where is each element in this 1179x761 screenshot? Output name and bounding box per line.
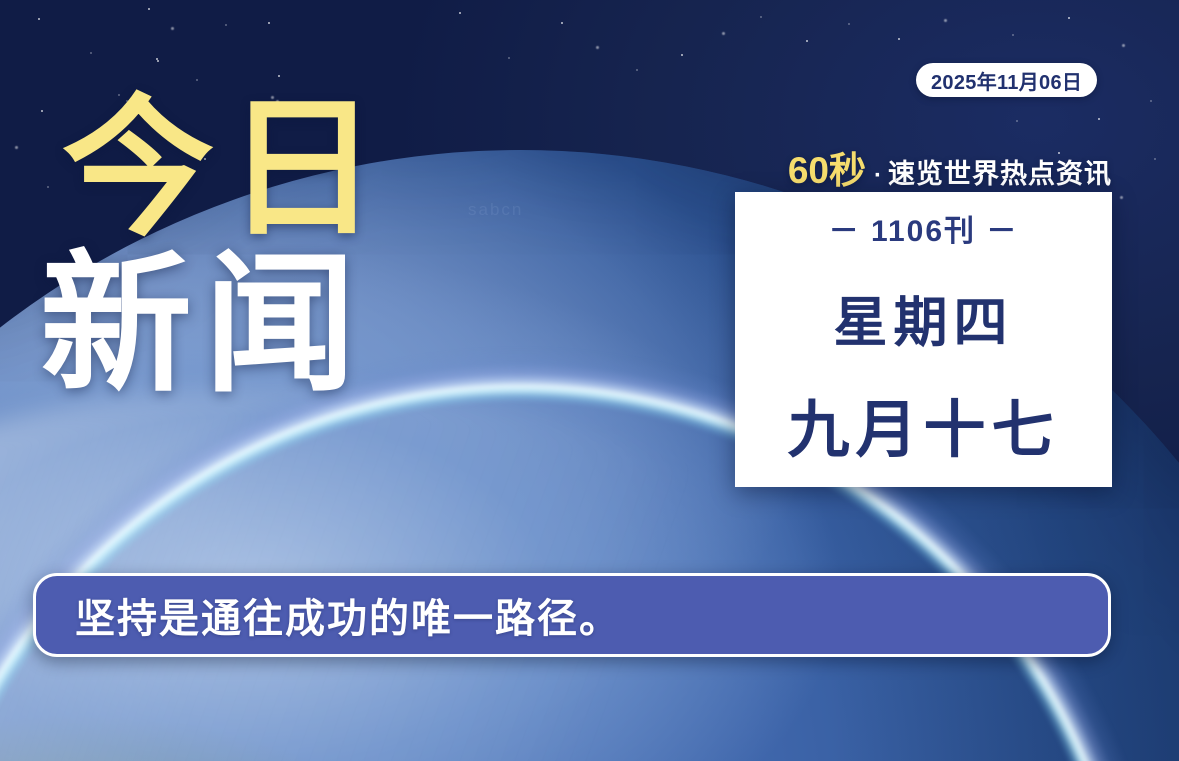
news-poster: sabcn 今日 新闻 2025年11月06日 60秒 · 速览世界热点资讯 －… bbox=[0, 0, 1179, 761]
quote-bar: 坚持是通往成功的唯一路径。 bbox=[33, 573, 1111, 657]
weekday-label: 星期四 bbox=[834, 278, 1014, 357]
tagline: 60秒 · 速览世界热点资讯 bbox=[735, 140, 1112, 186]
lunar-date-label: 九月十七 bbox=[787, 379, 1059, 469]
tagline-separator-dot: · bbox=[874, 162, 882, 190]
issue-number: － 1106刊 － bbox=[829, 206, 1019, 250]
info-card: － 1106刊 － 星期四 九月十七 bbox=[735, 192, 1112, 487]
masthead-line-news: 新闻 bbox=[40, 252, 390, 398]
tagline-description: 速览世界热点资讯 bbox=[888, 152, 1112, 191]
date-badge: 2025年11月06日 bbox=[916, 63, 1097, 97]
masthead: 今日 新闻 bbox=[62, 96, 390, 398]
background-watermark: sabcn bbox=[468, 200, 523, 220]
quote-text: 坚持是通往成功的唯一路径。 bbox=[75, 586, 621, 644]
masthead-line-today: 今日 bbox=[62, 96, 390, 242]
tagline-60-seconds: 60秒 bbox=[788, 140, 866, 194]
